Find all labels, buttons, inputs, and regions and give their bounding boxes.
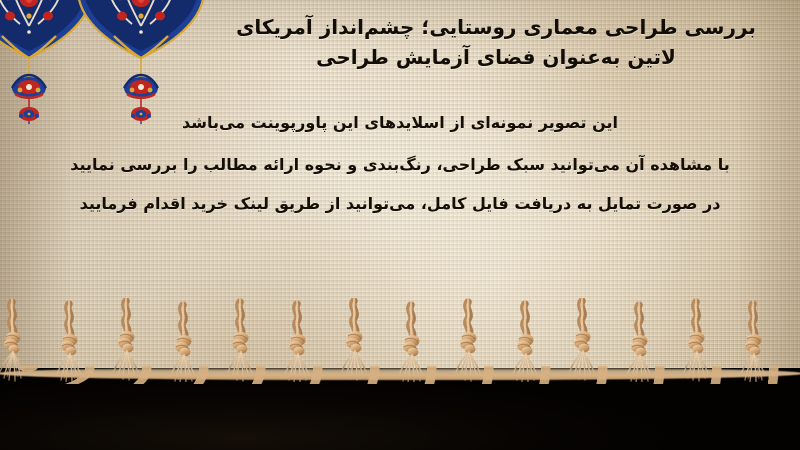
slide-body-line-3: در صورت تمایل به دریافت فایل کامل، می‌تو… bbox=[18, 194, 782, 214]
slide-body: این تصویر نمونه‌ای از اسلایدهای این پاور… bbox=[18, 113, 782, 214]
slide-canvas: بررسی طراحی معماری روستایی؛ چشم‌انداز آم… bbox=[0, 0, 800, 450]
slide-body-line-1: این تصویر نمونه‌ای از اسلایدهای این پاور… bbox=[18, 113, 782, 133]
slide-title: بررسی طراحی معماری روستایی؛ چشم‌انداز آم… bbox=[206, 12, 786, 72]
slide-body-line-2: با مشاهده آن می‌توانید سبک طراحی، رنگ‌بن… bbox=[18, 155, 782, 175]
slide-title-line-2: لاتین به‌عنوان فضای آزمایش طراحی bbox=[206, 42, 786, 72]
carpet-selvage-scallops bbox=[0, 366, 800, 384]
slide-title-line-1: بررسی طراحی معماری روستایی؛ چشم‌انداز آم… bbox=[206, 12, 786, 42]
